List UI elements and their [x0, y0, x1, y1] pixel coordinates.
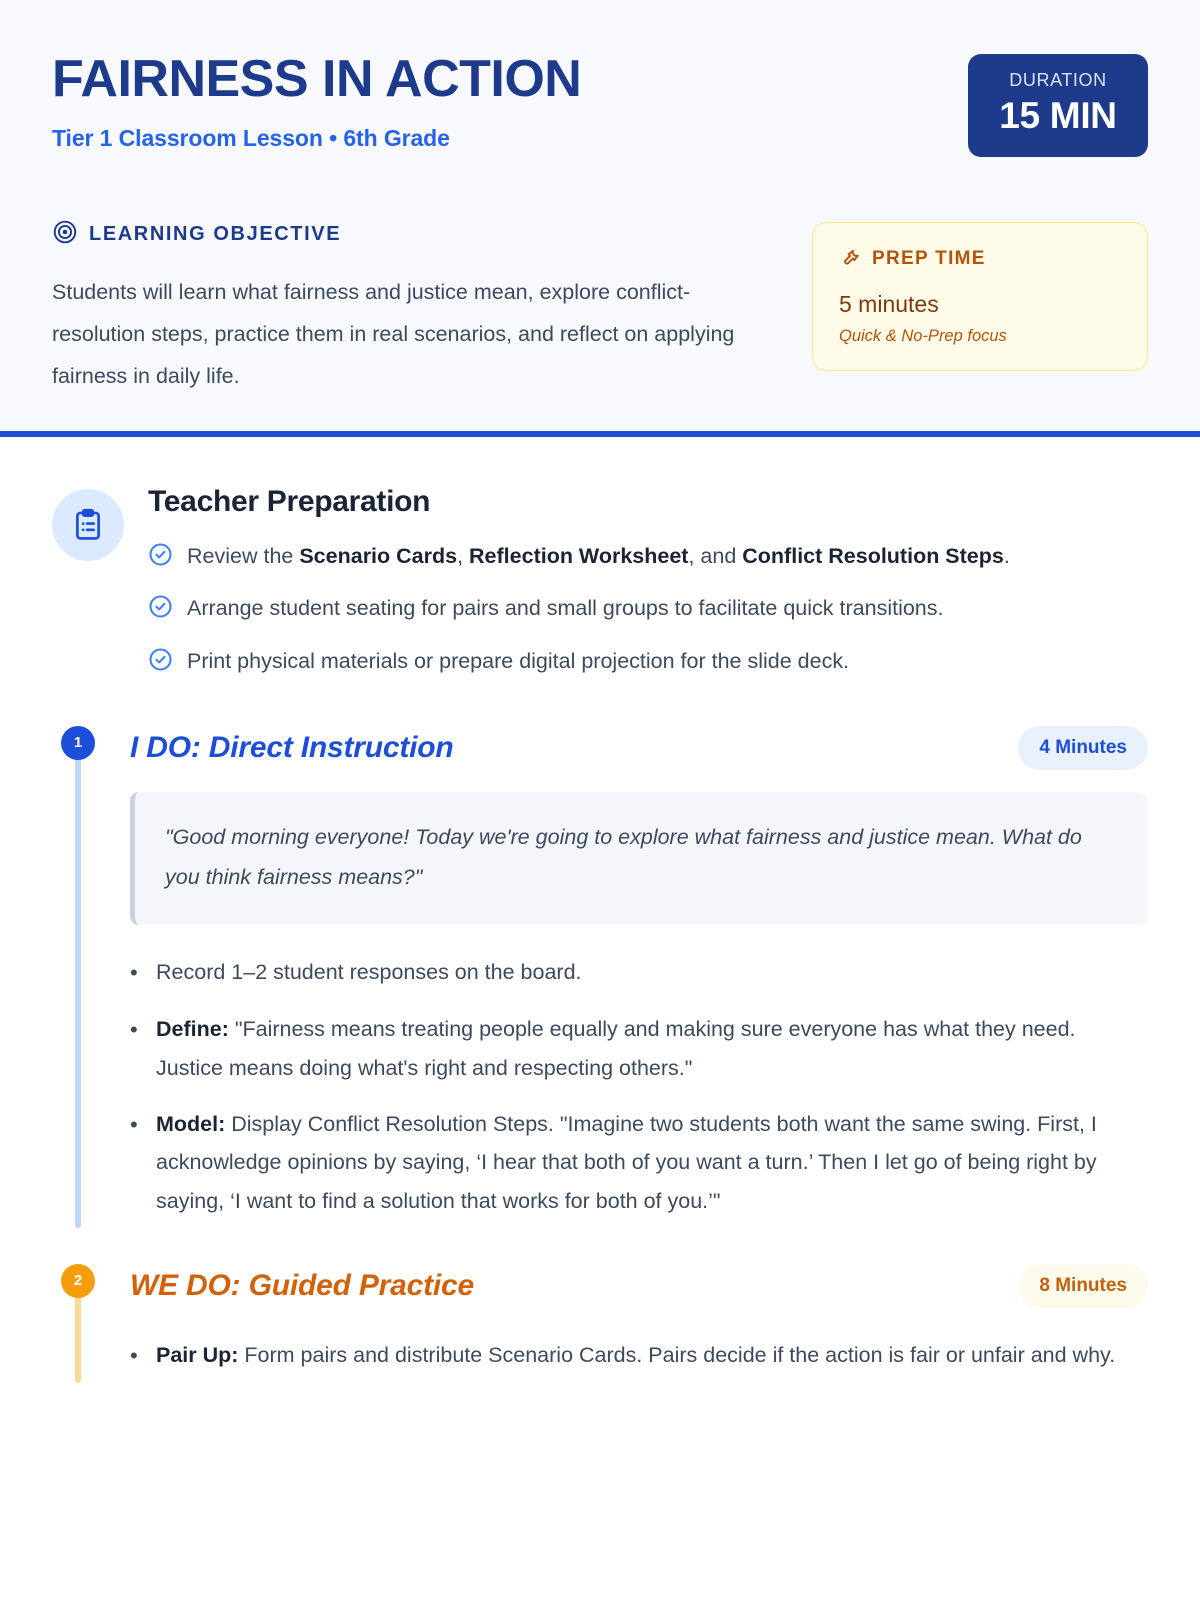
- step-number-badge: 1: [61, 726, 95, 760]
- step-number-badge: 2: [61, 1264, 95, 1298]
- teacher-prep-item: Arrange student seating for pairs and sm…: [148, 589, 1148, 627]
- step-title: WE DO: Guided Practice: [130, 1269, 474, 1303]
- teacher-preparation-list: Review the Scenario Cards, Reflection Wo…: [148, 537, 1148, 680]
- step-bullets: •Pair Up: Form pairs and distribute Scen…: [130, 1336, 1148, 1375]
- teacher-prep-item-text: Review the Scenario Cards, Reflection Wo…: [187, 537, 1010, 575]
- lesson-header: FAIRNESS IN ACTION Tier 1 Classroom Less…: [0, 0, 1200, 437]
- teacher-preparation-title: Teacher Preparation: [148, 485, 1148, 519]
- clipboard-list-icon: [52, 489, 124, 561]
- learning-objective-text: Students will learn what fairness and ju…: [52, 272, 752, 398]
- step-timeline-rail: 1: [52, 726, 104, 1228]
- page-title: FAIRNESS IN ACTION: [52, 52, 581, 107]
- step-header: I DO: Direct Instruction4 Minutes: [130, 726, 1148, 770]
- step-bullet: •Record 1–2 student responses on the boa…: [130, 953, 1148, 992]
- prep-time-label: PREP TIME: [872, 248, 986, 270]
- teacher-preparation-section: Teacher Preparation Review the Scenario …: [52, 485, 1148, 680]
- teacher-script-text: "Good morning everyone! Today we're goin…: [165, 818, 1118, 898]
- check-circle-icon: [148, 647, 173, 677]
- lesson-step-1: 1I DO: Direct Instruction4 Minutes"Good …: [52, 726, 1148, 1228]
- header-bottom-row: LEARNING OBJECTIVE Students will learn w…: [52, 219, 1148, 398]
- step-time-pill: 8 Minutes: [1018, 1264, 1148, 1308]
- title-block: FAIRNESS IN ACTION Tier 1 Classroom Less…: [52, 52, 581, 152]
- learning-objective-block: LEARNING OBJECTIVE Students will learn w…: [52, 219, 767, 398]
- step-header: WE DO: Guided Practice8 Minutes: [130, 1264, 1148, 1308]
- step-content: WE DO: Guided Practice8 Minutes•Pair Up:…: [104, 1264, 1148, 1383]
- prep-time-note: Quick & No-Prep focus: [839, 327, 1121, 346]
- learning-objective-label: LEARNING OBJECTIVE: [89, 223, 341, 246]
- duration-badge: DURATION 15 MIN: [968, 54, 1148, 157]
- target-icon: [52, 219, 78, 250]
- teacher-preparation-content: Teacher Preparation Review the Scenario …: [148, 485, 1148, 680]
- teacher-prep-item: Print physical materials or prepare digi…: [148, 642, 1148, 680]
- prep-time-value: 5 minutes: [839, 291, 1121, 318]
- learning-objective-heading: LEARNING OBJECTIVE: [52, 219, 767, 250]
- teacher-prep-item: Review the Scenario Cards, Reflection Wo…: [148, 537, 1148, 575]
- step-bullet-text: Define: "Fairness means treating people …: [156, 1010, 1148, 1087]
- check-circle-icon: [148, 594, 173, 624]
- duration-value: 15 MIN: [994, 95, 1122, 137]
- teacher-prep-item-text: Print physical materials or prepare digi…: [187, 642, 849, 680]
- teacher-prep-item-text: Arrange student seating for pairs and sm…: [187, 589, 943, 627]
- prep-time-heading: PREP TIME: [839, 245, 1121, 273]
- step-bullet: •Model: Display Conflict Resolution Step…: [130, 1105, 1148, 1220]
- lesson-body: Teacher Preparation Review the Scenario …: [0, 437, 1200, 1383]
- step-bullets: •Record 1–2 student responses on the boa…: [130, 953, 1148, 1219]
- bullet-dot-icon: •: [130, 1105, 140, 1220]
- bullet-dot-icon: •: [130, 1010, 140, 1087]
- step-content: I DO: Direct Instruction4 Minutes"Good m…: [104, 726, 1148, 1228]
- step-bullet-text: Model: Display Conflict Resolution Steps…: [156, 1105, 1148, 1220]
- header-top-row: FAIRNESS IN ACTION Tier 1 Classroom Less…: [52, 52, 1148, 157]
- header-divider: [0, 431, 1200, 437]
- bullet-dot-icon: •: [130, 1336, 140, 1375]
- step-timeline-rail: 2: [52, 1264, 104, 1383]
- check-circle-icon: [148, 542, 173, 572]
- step-bullet-text: Record 1–2 student responses on the boar…: [156, 953, 582, 992]
- duration-label: DURATION: [994, 70, 1122, 91]
- step-rail-line: [75, 742, 81, 1228]
- step-bullet-text: Pair Up: Form pairs and distribute Scena…: [156, 1336, 1115, 1375]
- step-bullet: •Pair Up: Form pairs and distribute Scen…: [130, 1336, 1148, 1375]
- step-title: I DO: Direct Instruction: [130, 731, 454, 765]
- lesson-step-2: 2WE DO: Guided Practice8 Minutes•Pair Up…: [52, 1264, 1148, 1383]
- prep-time-card: PREP TIME 5 minutes Quick & No-Prep focu…: [812, 222, 1148, 371]
- wrench-icon: [839, 245, 862, 273]
- lesson-steps: 1I DO: Direct Instruction4 Minutes"Good …: [52, 726, 1148, 1383]
- step-bullet: •Define: "Fairness means treating people…: [130, 1010, 1148, 1087]
- step-time-pill: 4 Minutes: [1018, 726, 1148, 770]
- lesson-subtitle: Tier 1 Classroom Lesson • 6th Grade: [52, 125, 581, 152]
- bullet-dot-icon: •: [130, 953, 140, 992]
- teacher-script-quote: "Good morning everyone! Today we're goin…: [130, 792, 1148, 926]
